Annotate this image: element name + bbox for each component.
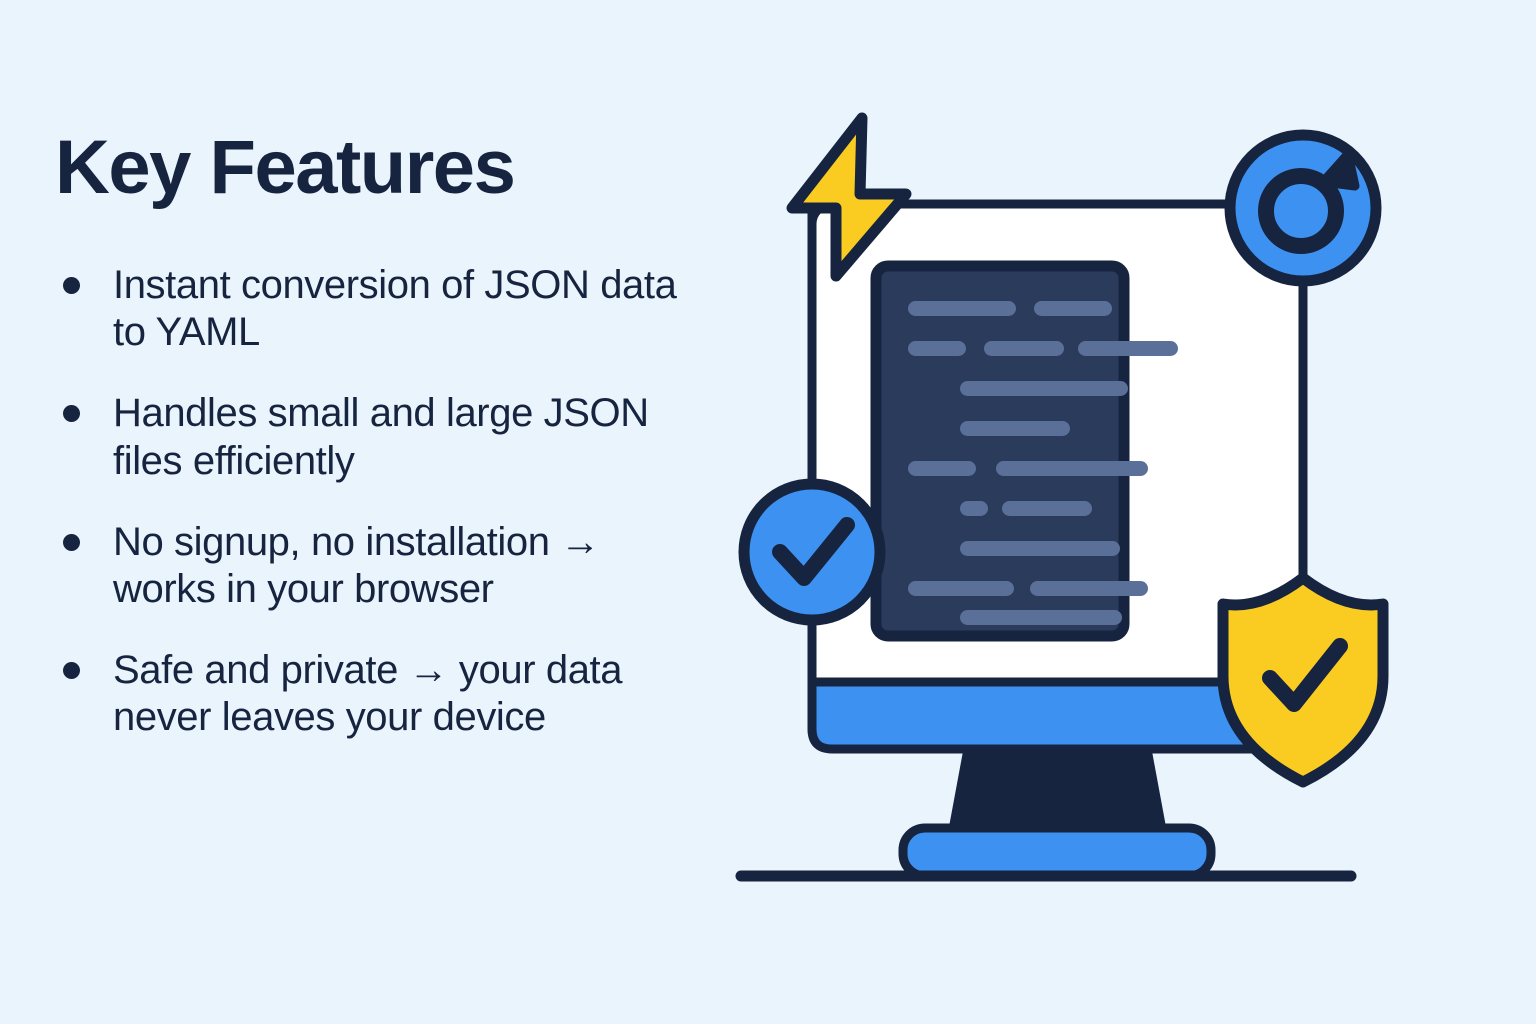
json-to-yaml-converter-monitor-illustration [700, 90, 1400, 920]
code-line [960, 610, 1122, 625]
refresh-sync-icon [1230, 135, 1376, 281]
features-text-column: Key Features Instant conversion of JSON … [55, 130, 695, 742]
list-item: No signup, no installation → works in yo… [55, 519, 695, 613]
bullet-dot-icon [63, 405, 80, 422]
list-item: Safe and private → your data never leave… [55, 647, 695, 741]
feature-list: Instant conversion of JSON data to YAML … [55, 262, 695, 742]
list-item: Handles small and large JSON files effic… [55, 390, 695, 484]
list-item-label: Instant conversion of JSON data to YAML [113, 263, 676, 354]
bullet-dot-icon [63, 662, 80, 679]
list-item-label: No signup, no installation → works in yo… [113, 520, 600, 611]
monitor-neck [953, 749, 1162, 830]
list-item: Instant conversion of JSON data to YAML [55, 262, 695, 356]
bullet-dot-icon [63, 534, 80, 551]
check-circle-icon [744, 484, 880, 620]
monitor-base [903, 828, 1211, 876]
bullet-dot-icon [63, 277, 80, 294]
list-item-label: Safe and private → your data never leave… [113, 648, 622, 739]
list-item-label: Handles small and large JSON files effic… [113, 391, 649, 482]
slide-canvas: Key Features Instant conversion of JSON … [0, 0, 1536, 1024]
page-title: Key Features [55, 130, 695, 206]
